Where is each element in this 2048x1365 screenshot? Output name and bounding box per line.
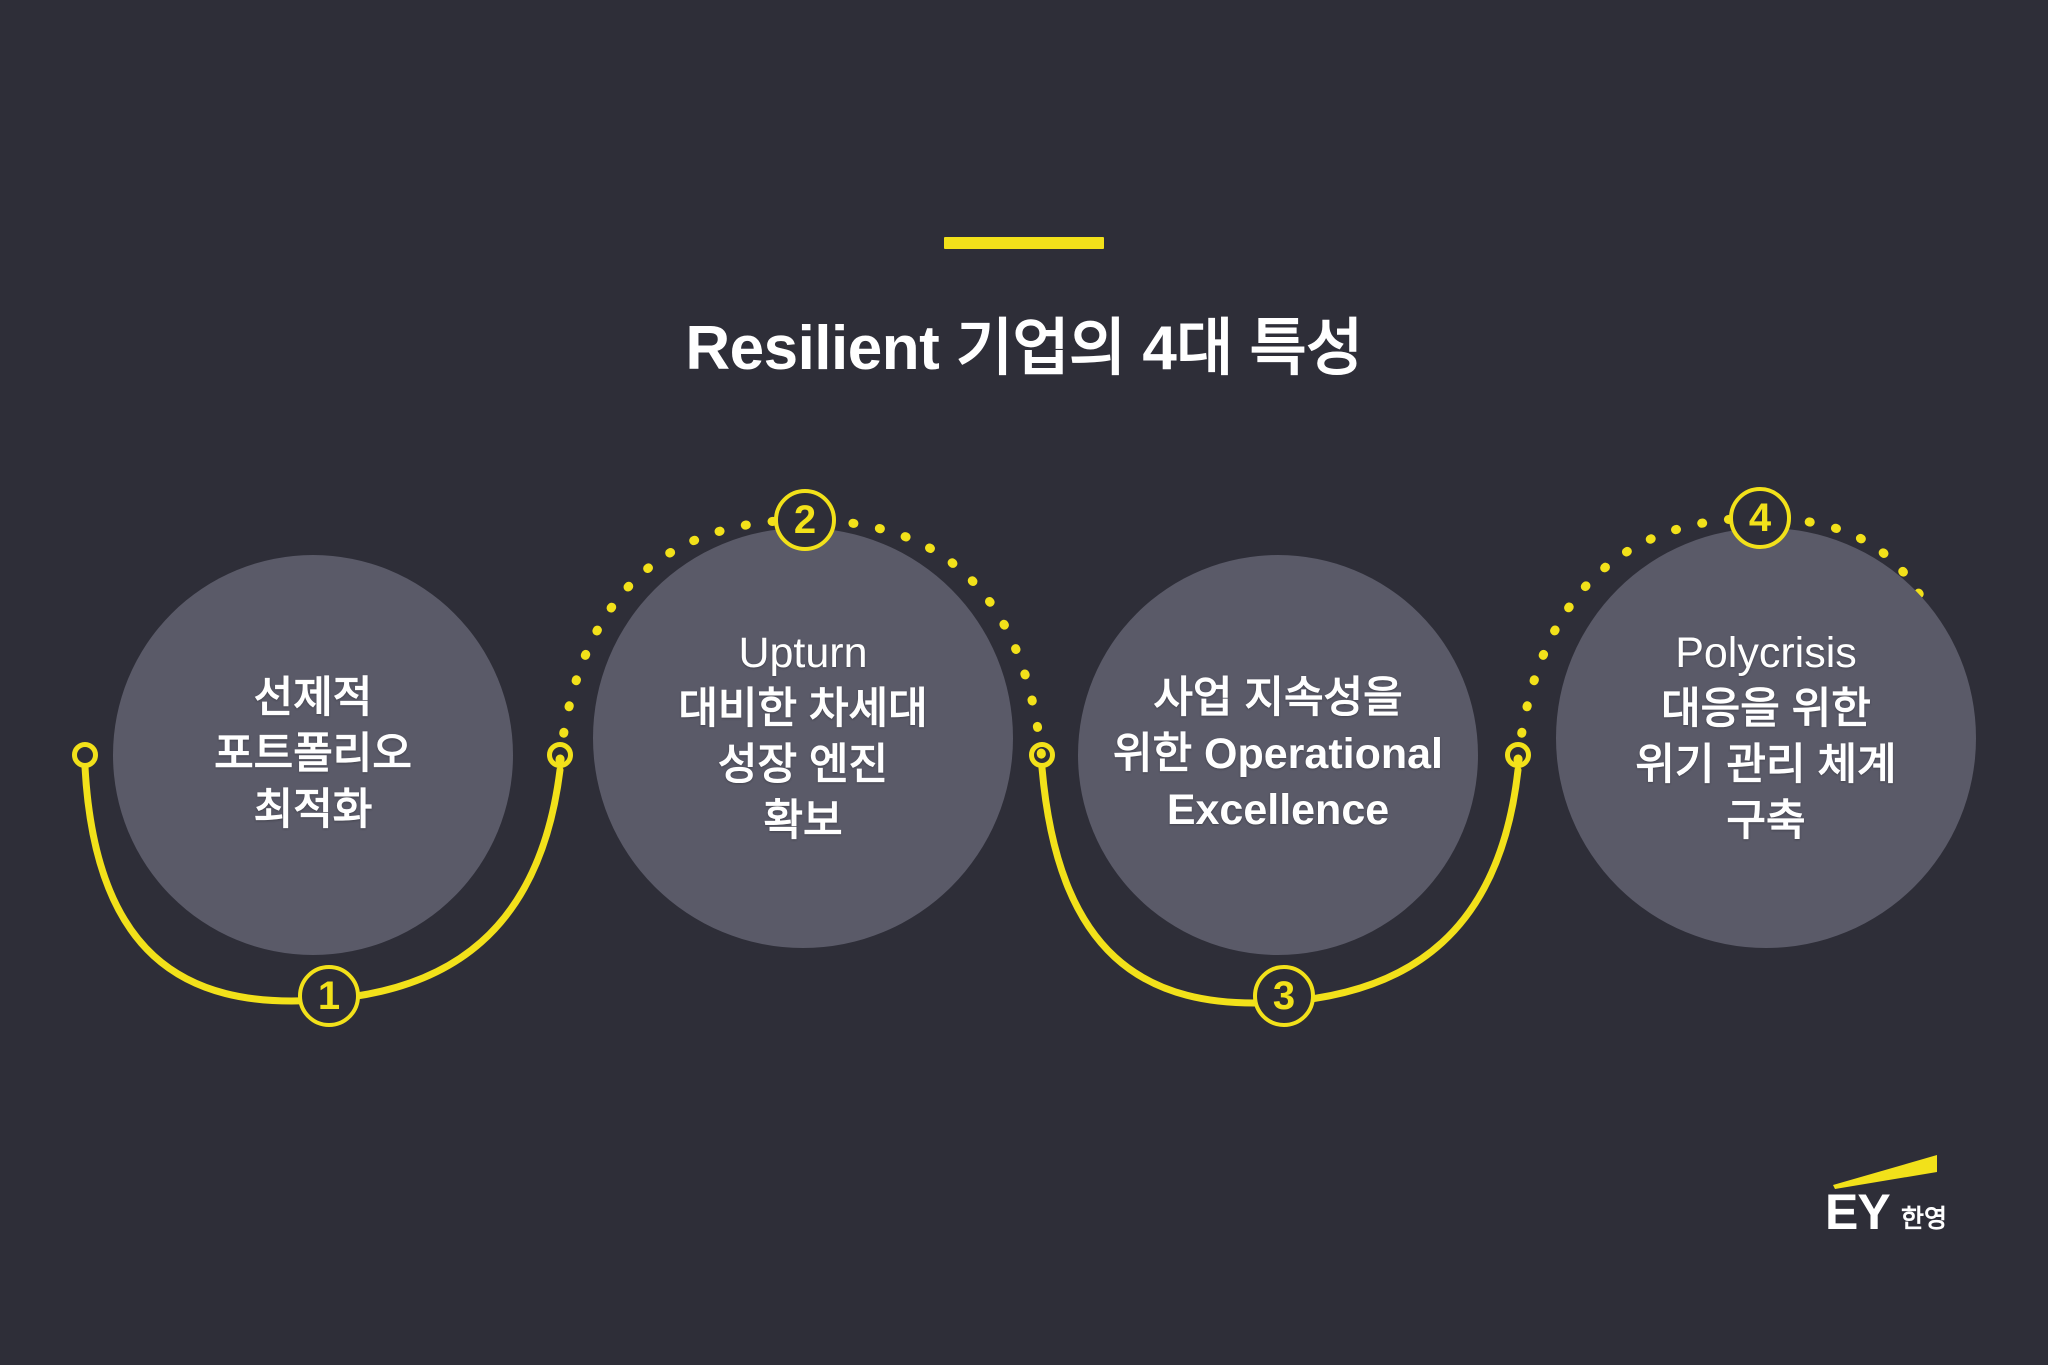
step-badge-3[interactable]: 3: [1253, 965, 1315, 1027]
node-3-line-2: 위한 Operational: [1113, 730, 1443, 778]
node-1-line-1: 선제적: [254, 674, 373, 722]
node-text-2: Upturn 대비한 차세대 성장 엔진 확보: [664, 626, 941, 850]
node-circle-2[interactable]: Upturn 대비한 차세대 성장 엔진 확보: [593, 528, 1013, 948]
node-text-3: 사업 지속성을 위한 Operational Excellence: [1099, 671, 1457, 839]
step-badge-1[interactable]: 1: [298, 965, 360, 1027]
ey-korean-label: 한영: [1901, 1207, 1947, 1232]
endpoint-ring-mid-3: [1505, 742, 1531, 768]
node-text-4: Polycrisis 대응을 위한 위기 관리 체계 구축: [1621, 626, 1910, 850]
slide-canvas: Resilient 기업의 4대 특성 선제적 포트폴리오 최적화 Upturn…: [0, 0, 2048, 1365]
node-circle-3[interactable]: 사업 지속성을 위한 Operational Excellence: [1078, 555, 1478, 955]
node-text-1: 선제적 포트폴리오 최적화: [200, 671, 426, 839]
node-1-line-2: 포트폴리오: [214, 730, 412, 778]
node-3-line-1: 사업 지속성을: [1153, 674, 1402, 722]
node-4-line-3: 구축: [1726, 797, 1805, 845]
node-4-line-1: 대응을 위한: [1661, 685, 1871, 733]
ey-logo: EY 한영: [1825, 1155, 2005, 1245]
node-1-line-3: 최적화: [254, 786, 373, 834]
node-4-line-2: 위기 관리 체계: [1635, 741, 1896, 789]
step-badge-2[interactable]: 2: [774, 489, 836, 551]
endpoint-ring-mid-1: [547, 742, 573, 768]
node-2-english-lead: Upturn: [738, 629, 867, 677]
title-accent-bar: [944, 237, 1104, 249]
endpoint-ring-left: [72, 742, 98, 768]
node-circle-4[interactable]: Polycrisis 대응을 위한 위기 관리 체계 구축: [1556, 528, 1976, 948]
endpoint-ring-mid-2: [1029, 742, 1055, 768]
step-badge-4[interactable]: 4: [1729, 487, 1791, 549]
page-title: Resilient 기업의 4대 특성: [0, 315, 2048, 383]
node-2-line-1: 대비한 차세대: [678, 685, 927, 733]
node-circle-1[interactable]: 선제적 포트폴리오 최적화: [113, 555, 513, 955]
node-2-line-2: 성장 엔진: [718, 741, 888, 789]
node-2-line-3: 확보: [763, 797, 842, 845]
ey-wordmark: EY: [1825, 1187, 1890, 1237]
node-3-line-3: Excellence: [1167, 786, 1389, 834]
node-4-english-lead: Polycrisis: [1675, 629, 1857, 677]
